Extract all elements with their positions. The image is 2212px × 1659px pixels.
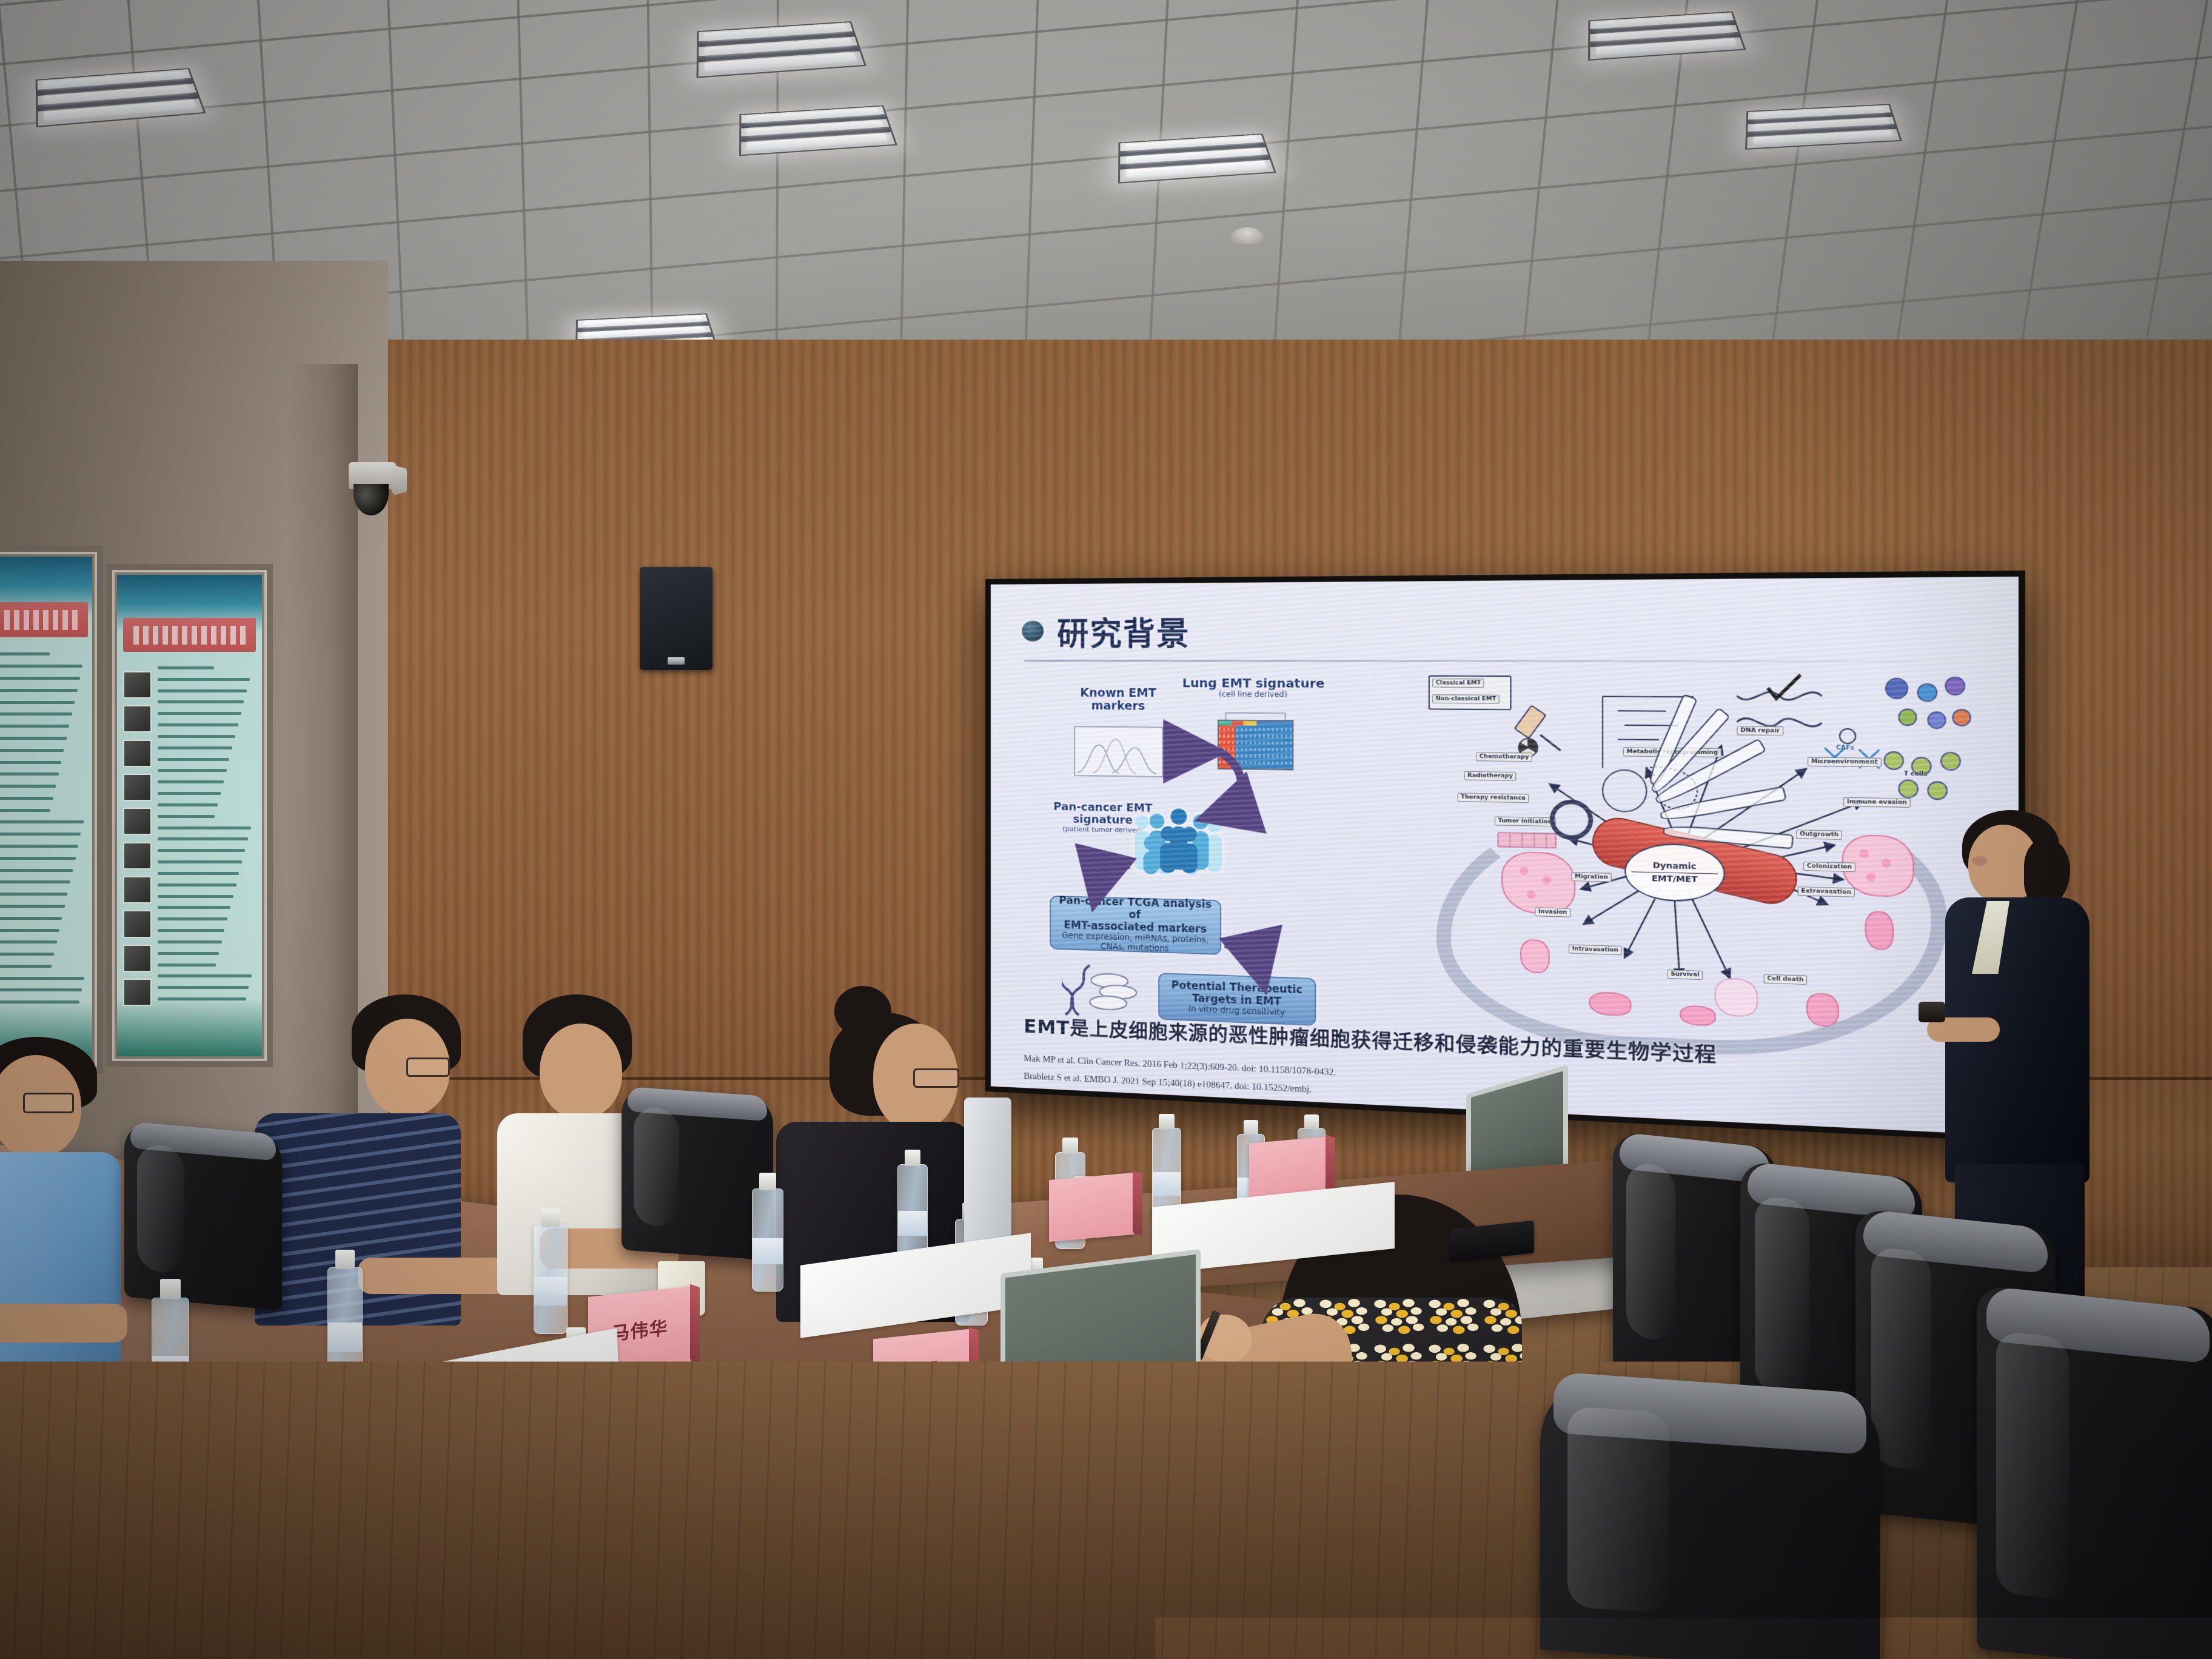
chair[interactable] [124, 1121, 282, 1311]
label-extravasation: Extravasation [1798, 886, 1855, 897]
wall-poster-1 [0, 546, 103, 1073]
conference-room-photo: 研究背景 Known EMT markers Lung EMT [0, 0, 2212, 1659]
water-bottle[interactable] [897, 1164, 928, 1261]
immune-cell-icon [1927, 711, 1946, 729]
immune-cell-icon [1917, 683, 1938, 702]
label-migration: Migration [1571, 872, 1611, 882]
bullet-dot-icon [1022, 621, 1044, 642]
label-cafs: CAFs [1833, 744, 1857, 752]
slide-title: 研究背景 [1057, 608, 1190, 654]
label-chemotherapy: Chemotherapy [1476, 752, 1532, 762]
label-cell-death: Cell death [1764, 974, 1808, 985]
chair[interactable] [622, 1086, 773, 1260]
immune-cell-icon [1898, 708, 1917, 726]
immune-cell-icon [1885, 678, 1908, 699]
attendee-forearm [358, 1258, 509, 1294]
t-cell-icon [1940, 752, 1961, 771]
projection-screen[interactable]: 研究背景 Known EMT markers Lung EMT [985, 571, 2025, 1142]
name-card: 李娟 [873, 1329, 970, 1411]
label-t-cells: T cells [1901, 770, 1930, 779]
smoke-detector-icon [1231, 227, 1264, 244]
chair-foreground[interactable] [1540, 1370, 1880, 1659]
laptop-screen [564, 1379, 788, 1653]
label-dna-repair: DNA repair [1737, 726, 1783, 736]
slide-title-row: 研究背景 [1022, 600, 1974, 658]
dome-camera-icon [349, 462, 396, 489]
attendee-head [540, 1024, 622, 1118]
power-cable [922, 1504, 1104, 1552]
label-immune-evasion: Immune evasion [1843, 797, 1911, 808]
label-survival: Survival [1667, 970, 1703, 980]
t-cell-icon [1927, 781, 1948, 800]
immune-cell-icon [1952, 709, 1971, 726]
knife-corkscrew [1550, 799, 1594, 840]
label-invasion: Invasion [1535, 907, 1570, 917]
water-bottle[interactable] [752, 1188, 783, 1292]
poster-header-band [0, 602, 88, 637]
tumor-cell-clump [1520, 939, 1550, 974]
tumor-cell-clump [1865, 911, 1894, 950]
water-bottle[interactable] [327, 1267, 363, 1382]
laptop-screen [1000, 1249, 1201, 1498]
poster-header-band [123, 618, 256, 652]
attendee-laptop[interactable] [1000, 1249, 1201, 1498]
attendee-laptop-foreground[interactable] [564, 1379, 788, 1653]
label-microenvironment: Microenvironment [1808, 757, 1881, 767]
attendee-glasses-icon [406, 1057, 450, 1077]
presenter-face-profile [1972, 856, 1988, 866]
label-intravasation: Intravasation [1569, 944, 1622, 955]
immune-cell-icon [1945, 677, 1965, 695]
label-colonization: Colonization [1803, 862, 1855, 872]
wall-speaker-icon [640, 567, 712, 670]
water-bottle[interactable] [152, 1298, 189, 1419]
t-cell-icon [1883, 751, 1903, 770]
label-therapy-resistance: Therapy resistance [1458, 793, 1529, 803]
name-card [1049, 1173, 1134, 1242]
chair[interactable] [1977, 1285, 2212, 1659]
tumor-initiation-cells [1497, 832, 1556, 848]
emt-workflow-diagram: Known EMT markers Lung EMT signature (ce… [1033, 675, 1384, 1031]
attendee-glasses-icon [23, 1093, 74, 1113]
thermos-flask[interactable] [964, 1098, 1011, 1249]
attendee-polo-shirt [0, 1152, 121, 1376]
t-cell-icon [1898, 779, 1919, 798]
water-bottle[interactable] [230, 1467, 272, 1601]
slide-references: Mak MP et al. Clin Cancer Res. 2016 Feb … [1024, 1050, 1336, 1101]
wall-poster-2 [106, 564, 273, 1067]
presentation-slide: 研究背景 Known EMT markers Lung EMT [991, 577, 2019, 1136]
label-outgrowth: Outgrowth [1796, 829, 1842, 840]
workflow-arrows [1033, 675, 1384, 1031]
water-bottle[interactable] [534, 1225, 568, 1334]
attendee-forearm [0, 1304, 127, 1342]
attendee-glasses-icon [913, 1068, 959, 1088]
label-radiotherapy: Radiotherapy [1464, 771, 1517, 781]
presenter-ponytail [2024, 839, 2070, 906]
presenter-clicker[interactable] [1919, 1002, 1945, 1022]
label-tumor-initiation: Tumor initiation [1495, 817, 1555, 827]
emt-met-swissknife-diagram: Classical EMT Non-classical EMT [1423, 670, 1972, 1075]
title-divider [1024, 660, 1984, 663]
